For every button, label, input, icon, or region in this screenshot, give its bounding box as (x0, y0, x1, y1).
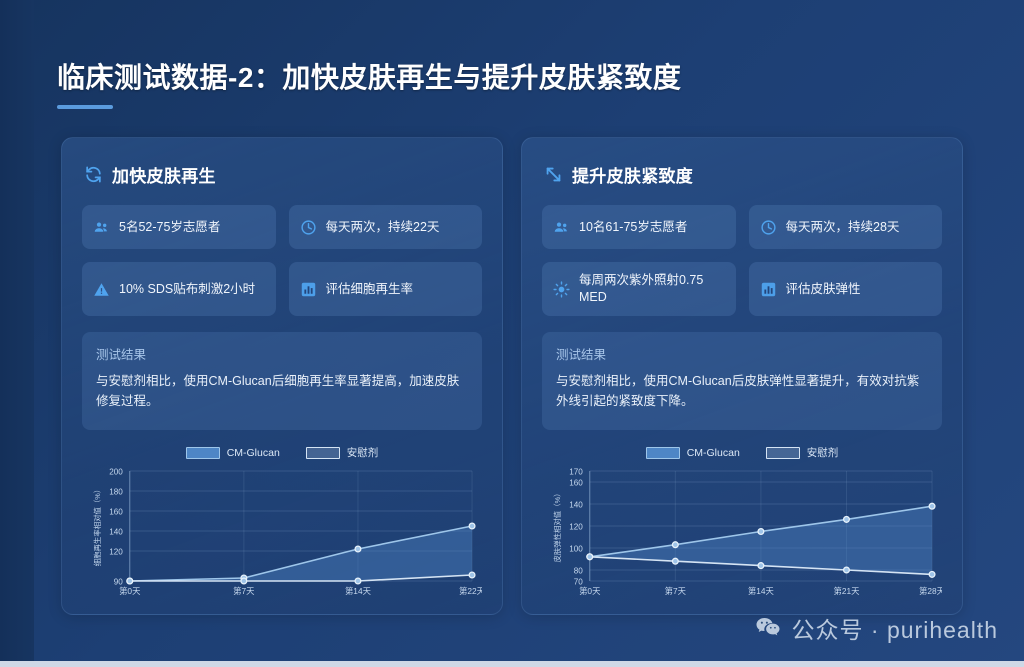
svg-text:第22天: 第22天 (459, 586, 482, 596)
svg-text:170: 170 (569, 467, 583, 476)
legend-label: CM-Glucan (687, 447, 740, 459)
clock-icon (760, 219, 777, 236)
refresh-cycle-icon (84, 165, 103, 184)
title-underline-accent (57, 105, 113, 109)
svg-text:100: 100 (569, 544, 583, 553)
meta-chip-label: 每周两次紫外照射0.75 MED (579, 272, 725, 306)
diagonal-arrows-icon (544, 165, 563, 184)
panel-header: 提升皮肤紧致度 (544, 159, 942, 189)
meta-chip-label: 10% SDS贴布刺激2小时 (119, 281, 255, 298)
svg-text:第14天: 第14天 (345, 586, 372, 596)
meta-chip-label: 5名52-75岁志愿者 (119, 219, 220, 236)
legend-label: 安慰剂 (347, 445, 379, 460)
meta-chip-volunteers: 5名52-75岁志愿者 (82, 205, 276, 249)
svg-text:160: 160 (569, 478, 583, 487)
warning-icon (93, 281, 110, 298)
chart-legend: CM-Glucan 安慰剂 (82, 444, 482, 461)
sun-uv-icon (553, 281, 570, 298)
svg-text:细胞再生率相对值（%）: 细胞再生率相对值（%） (93, 486, 102, 567)
result-text: 与安慰剂相比，使用CM-Glucan后细胞再生率显著提高，加速皮肤修复过程。 (96, 371, 468, 412)
svg-text:第0天: 第0天 (579, 586, 601, 596)
legend-swatch-icon (306, 447, 340, 459)
svg-text:第14天: 第14天 (748, 586, 775, 596)
watermark-text: 公众号 · purihealth (792, 611, 998, 645)
users-icon (93, 219, 110, 236)
meta-chip-label: 每天两次，持续22天 (326, 219, 440, 236)
svg-text:160: 160 (109, 507, 123, 516)
panel-title: 加快皮肤再生 (112, 162, 216, 187)
skin-elasticity-chart: CM-Glucan 安慰剂 7080100120140160170皮肤弹性相对值… (542, 444, 942, 604)
meta-chip-label: 每天两次，持续28天 (786, 219, 900, 236)
svg-text:120: 120 (109, 547, 123, 556)
legend-swatch-icon (646, 447, 680, 459)
panel-skin-regeneration: 加快皮肤再生 5名52-75岁志愿者 (61, 137, 503, 615)
svg-text:180: 180 (109, 487, 123, 496)
meta-chip-label: 评估细胞再生率 (326, 281, 414, 298)
legend-item-cmglucan: CM-Glucan (646, 447, 740, 459)
slide-background: 临床测试数据-2：加快皮肤再生与提升皮肤紧致度 加快皮肤再生 (0, 0, 1024, 667)
panel-skin-firmness: 提升皮肤紧致度 10名61-75岁志愿者 (521, 137, 963, 615)
meta-chip-grid: 10名61-75岁志愿者 每天两次，持续28天 (542, 205, 942, 316)
chart-legend: CM-Glucan 安慰剂 (542, 444, 942, 461)
meta-chip-assessment: 评估皮肤弹性 (749, 262, 943, 316)
legend-item-placebo: 安慰剂 (766, 445, 839, 460)
svg-text:120: 120 (569, 522, 583, 531)
svg-text:140: 140 (109, 527, 123, 536)
svg-text:第21天: 第21天 (833, 586, 860, 596)
legend-swatch-icon (766, 447, 800, 459)
panel-title: 提升皮肤紧致度 (572, 162, 693, 187)
bar-chart-icon (760, 281, 777, 298)
cell-regeneration-chart: CM-Glucan 安慰剂 90120140160180200细胞再生率相对值（… (82, 444, 482, 604)
meta-chip-volunteers: 10名61-75岁志愿者 (542, 205, 736, 249)
meta-chip-grid: 5名52-75岁志愿者 每天两次，持续22天 (82, 205, 482, 316)
result-box: 测试结果 与安慰剂相比，使用CM-Glucan后细胞再生率显著提高，加速皮肤修复… (82, 332, 482, 430)
watermark: 公众号 · purihealth (755, 611, 998, 645)
meta-chip-stimulus: 10% SDS贴布刺激2小时 (82, 262, 276, 316)
result-text: 与安慰剂相比，使用CM-Glucan后皮肤弹性显著提升，有效对抗紫外线引起的紧致… (556, 371, 928, 412)
panel-header: 加快皮肤再生 (84, 159, 482, 189)
chart-plot-area: 7080100120140160170皮肤弹性相对值（%）第0天第7天第14天第… (542, 465, 942, 603)
svg-text:200: 200 (109, 467, 123, 476)
result-box: 测试结果 与安慰剂相比，使用CM-Glucan后皮肤弹性显著提升，有效对抗紫外线… (542, 332, 942, 430)
clock-icon (300, 219, 317, 236)
legend-item-cmglucan: CM-Glucan (186, 447, 280, 459)
legend-label: CM-Glucan (227, 447, 280, 459)
svg-text:80: 80 (574, 566, 584, 575)
wechat-icon (755, 615, 781, 641)
chart-plot-area: 90120140160180200细胞再生率相对值（%）第0天第7天第14天第2… (82, 465, 482, 603)
svg-text:皮肤弹性相对值（%）: 皮肤弹性相对值（%） (553, 489, 562, 562)
meta-chip-assessment: 评估细胞再生率 (289, 262, 483, 316)
svg-text:140: 140 (569, 500, 583, 509)
legend-item-placebo: 安慰剂 (306, 445, 379, 460)
svg-text:第28天: 第28天 (919, 586, 942, 596)
svg-text:第7天: 第7天 (665, 586, 687, 596)
meta-chip-label: 评估皮肤弹性 (786, 281, 861, 298)
result-label: 测试结果 (96, 344, 468, 363)
legend-swatch-icon (186, 447, 220, 459)
users-icon (553, 219, 570, 236)
title-block: 临床测试数据-2：加快皮肤再生与提升皮肤紧致度 (57, 56, 681, 109)
meta-chip-label: 10名61-75岁志愿者 (579, 219, 687, 236)
svg-text:第7天: 第7天 (233, 586, 255, 596)
meta-chip-frequency: 每天两次，持续22天 (289, 205, 483, 249)
meta-chip-uv-exposure: 每周两次紫外照射0.75 MED (542, 262, 736, 316)
legend-label: 安慰剂 (807, 445, 839, 460)
bar-chart-icon (300, 281, 317, 298)
result-label: 测试结果 (556, 344, 928, 363)
svg-text:第0天: 第0天 (119, 586, 141, 596)
meta-chip-frequency: 每天两次，持续28天 (749, 205, 943, 249)
page-title: 临床测试数据-2：加快皮肤再生与提升皮肤紧致度 (57, 56, 681, 96)
